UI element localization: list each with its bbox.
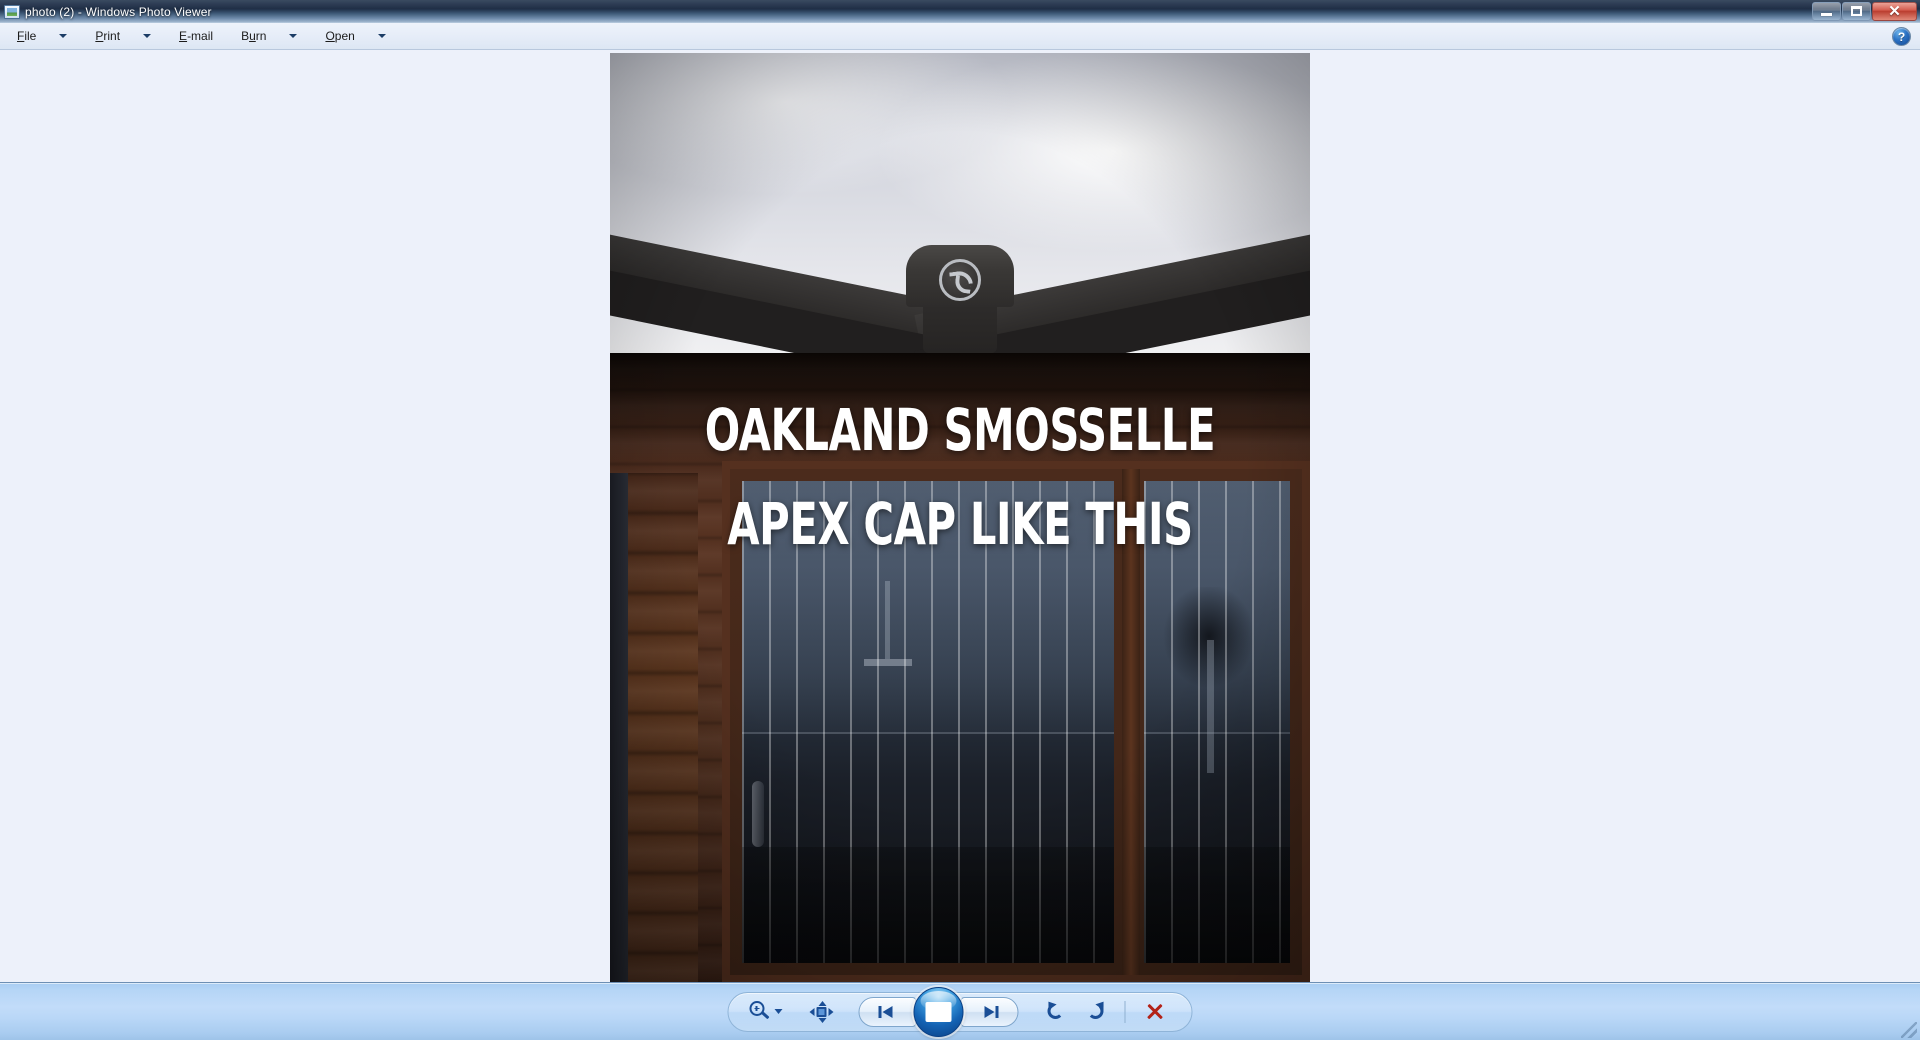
rotate-ccw-icon bbox=[1045, 1001, 1066, 1022]
minimize-icon bbox=[1821, 13, 1832, 16]
toolbar-pill bbox=[728, 992, 1193, 1032]
close-icon: ✕ bbox=[1888, 4, 1901, 19]
side-panel-dark bbox=[610, 473, 628, 982]
photo-viewer-icon bbox=[4, 4, 20, 20]
menu-file-label: ile bbox=[24, 29, 36, 43]
close-button[interactable]: ✕ bbox=[1872, 2, 1917, 21]
pane-shadow-bottom bbox=[742, 847, 1114, 963]
chevron-down-icon bbox=[289, 34, 297, 38]
menu-open[interactable]: Open bbox=[318, 25, 361, 47]
image-viewport[interactable]: OAKLAND SMOSSELLE APEX CAP LIKE THIS bbox=[0, 50, 1920, 982]
restore-button[interactable] bbox=[1842, 2, 1871, 21]
swoosh-badge-icon bbox=[939, 259, 981, 301]
menu-burn-caret[interactable] bbox=[273, 25, 304, 47]
slideshow-icon bbox=[926, 1002, 952, 1022]
menu-open-caret[interactable] bbox=[362, 25, 393, 47]
fit-to-window-button[interactable] bbox=[803, 995, 841, 1029]
help-icon[interactable]: ? bbox=[1892, 27, 1911, 46]
pane-shadow-bottom bbox=[1144, 847, 1290, 963]
next-icon bbox=[981, 1005, 999, 1019]
window-controls: ✕ bbox=[1811, 1, 1917, 21]
previous-button[interactable] bbox=[859, 997, 917, 1027]
delete-x-icon bbox=[1145, 1002, 1165, 1022]
menu-file[interactable]: File bbox=[10, 25, 43, 47]
toolbar-separator bbox=[1125, 1001, 1126, 1023]
fit-to-window-icon bbox=[811, 1002, 833, 1022]
slideshow-button[interactable] bbox=[914, 987, 964, 1037]
caption-line-2: APEX CAP LIKE THIS bbox=[680, 495, 1240, 553]
rotate-ccw-button[interactable] bbox=[1037, 995, 1075, 1029]
window-title: photo (2) - Windows Photo Viewer bbox=[25, 5, 212, 19]
next-button[interactable] bbox=[961, 997, 1019, 1027]
menu-email[interactable]: E-mail bbox=[172, 25, 220, 47]
chevron-down-icon bbox=[143, 34, 151, 38]
title-bar[interactable]: photo (2) - Windows Photo Viewer ✕ bbox=[0, 0, 1920, 23]
help-glyph: ? bbox=[1898, 31, 1905, 43]
rotate-cw-icon bbox=[1085, 1001, 1106, 1022]
caption-line-1: OAKLAND SMOSSELLE bbox=[705, 396, 1216, 464]
previous-icon bbox=[879, 1005, 897, 1019]
zoom-button[interactable] bbox=[747, 995, 785, 1029]
magnifier-plus-icon bbox=[749, 1001, 771, 1023]
chevron-down-icon bbox=[378, 34, 386, 38]
menu-print-caret[interactable] bbox=[127, 25, 158, 47]
minimize-button[interactable] bbox=[1812, 2, 1841, 21]
menu-print[interactable]: Print bbox=[88, 25, 127, 47]
chevron-down-icon bbox=[59, 34, 67, 38]
photo-image[interactable]: OAKLAND SMOSSELLE APEX CAP LIKE THIS bbox=[610, 53, 1310, 982]
chevron-down-icon[interactable] bbox=[775, 1009, 783, 1014]
menu-file-caret[interactable] bbox=[43, 25, 74, 47]
delete-button[interactable] bbox=[1136, 995, 1174, 1029]
rotate-cw-button[interactable] bbox=[1077, 995, 1115, 1029]
resize-grip[interactable] bbox=[1901, 1022, 1917, 1038]
photo-caption: OAKLAND SMOSSELLE APEX CAP LIKE THIS bbox=[680, 401, 1240, 553]
menu-bar: File Print E-mail Burn Open ? bbox=[0, 23, 1920, 50]
restore-icon bbox=[1851, 6, 1862, 16]
menu-burn[interactable]: Burn bbox=[234, 25, 273, 47]
door-handle bbox=[752, 781, 764, 847]
bottom-toolbar bbox=[0, 982, 1920, 1040]
